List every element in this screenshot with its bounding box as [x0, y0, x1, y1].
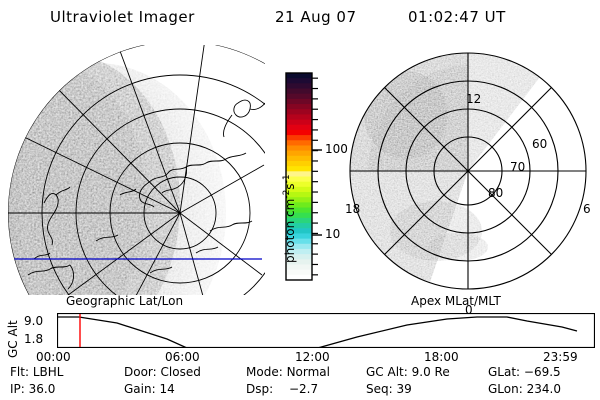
mlat-label-80: 80	[488, 186, 503, 200]
status-seq-key: Seq:	[366, 382, 393, 396]
right-panel-caption: Apex MLat/MLT	[411, 294, 501, 308]
status-gcalt-value: 9.0 Re	[412, 365, 450, 379]
status-glat-value: −69.5	[524, 365, 561, 379]
status-gain-value: 14	[159, 382, 174, 396]
status-flt-key: Flt:	[10, 365, 29, 379]
mlat-label-60: 60	[532, 137, 547, 151]
colorbar-axis-label: photon cm-2s-1	[282, 174, 297, 263]
status-mode: Mode: Normal	[246, 365, 330, 379]
status-dsp-value: −2.7	[289, 382, 318, 396]
observation-time: 01:02:47 UT	[408, 8, 506, 26]
status-ip-key: IP:	[10, 382, 25, 396]
status-glon-value: 234.0	[527, 382, 561, 396]
magnetic-dial-panel: 12 6 0 18 60 70 80	[340, 45, 600, 295]
colorbar-panel: 100 10 photon cm-2s-1	[268, 45, 340, 295]
geographic-image-panel	[0, 45, 265, 295]
strip-xtick-0600: 06:00	[165, 350, 200, 364]
status-block: Flt: LBHL Door: Closed Mode: Normal GC A…	[0, 365, 600, 400]
status-door-key: Door:	[124, 365, 157, 379]
status-glon-key: GLon:	[488, 382, 523, 396]
status-gain: Gain: 14	[124, 382, 175, 396]
status-seq-value: 39	[397, 382, 412, 396]
strip-y-axis-label: GC Alt	[6, 320, 20, 358]
mlt-label-12: 12	[466, 92, 481, 106]
strip-xtick-2359: 23:59	[543, 350, 578, 364]
status-flt: Flt: LBHL	[10, 365, 63, 379]
status-glat-key: GLat:	[488, 365, 520, 379]
mlat-mlt-dial	[340, 45, 600, 295]
orbit-altitude-strip: GC Alt 9.0 1.8 00:00 06:00 12:00 18:00 2…	[0, 310, 600, 360]
status-seq: Seq: 39	[366, 382, 412, 396]
status-ip: IP: 36.0	[10, 382, 55, 396]
instrument-title: Ultraviolet Imager	[50, 8, 195, 26]
status-glon: GLon: 234.0	[488, 382, 561, 396]
geographic-globe	[0, 45, 265, 295]
status-door: Door: Closed	[124, 365, 201, 379]
observation-date: 21 Aug 07	[275, 8, 357, 26]
status-gcalt-key: GC Alt:	[366, 365, 408, 379]
intensity-colorbar	[268, 45, 340, 295]
strip-xtick-1200: 12:00	[295, 350, 330, 364]
status-gcalt: GC Alt: 9.0 Re	[366, 365, 450, 379]
status-door-value: Closed	[161, 365, 201, 379]
mlt-label-6: 6	[583, 202, 591, 216]
mlat-label-70: 70	[510, 160, 525, 174]
strip-ytick-high: 9.0	[24, 314, 43, 328]
colorbar-tick-10: 10	[325, 227, 340, 241]
status-dsp: Dsp: −2.7	[246, 382, 318, 396]
strip-xtick-0000: 00:00	[36, 350, 71, 364]
status-ip-value: 36.0	[29, 382, 56, 396]
status-flt-value: LBHL	[33, 365, 64, 379]
status-mode-key: Mode:	[246, 365, 283, 379]
left-panel-caption: Geographic Lat/Lon	[66, 294, 183, 308]
uvi-display: Ultraviolet Imager 21 Aug 07 01:02:47 UT	[0, 0, 600, 400]
mlt-label-18: 18	[345, 202, 360, 216]
status-gain-key: Gain:	[124, 382, 156, 396]
strip-xtick-1800: 18:00	[424, 350, 459, 364]
status-mode-value: Normal	[287, 365, 330, 379]
status-dsp-key: Dsp:	[246, 382, 273, 396]
orbit-altitude-plot	[57, 313, 595, 348]
strip-ytick-low: 1.8	[24, 332, 43, 346]
status-glat: GLat: −69.5	[488, 365, 561, 379]
